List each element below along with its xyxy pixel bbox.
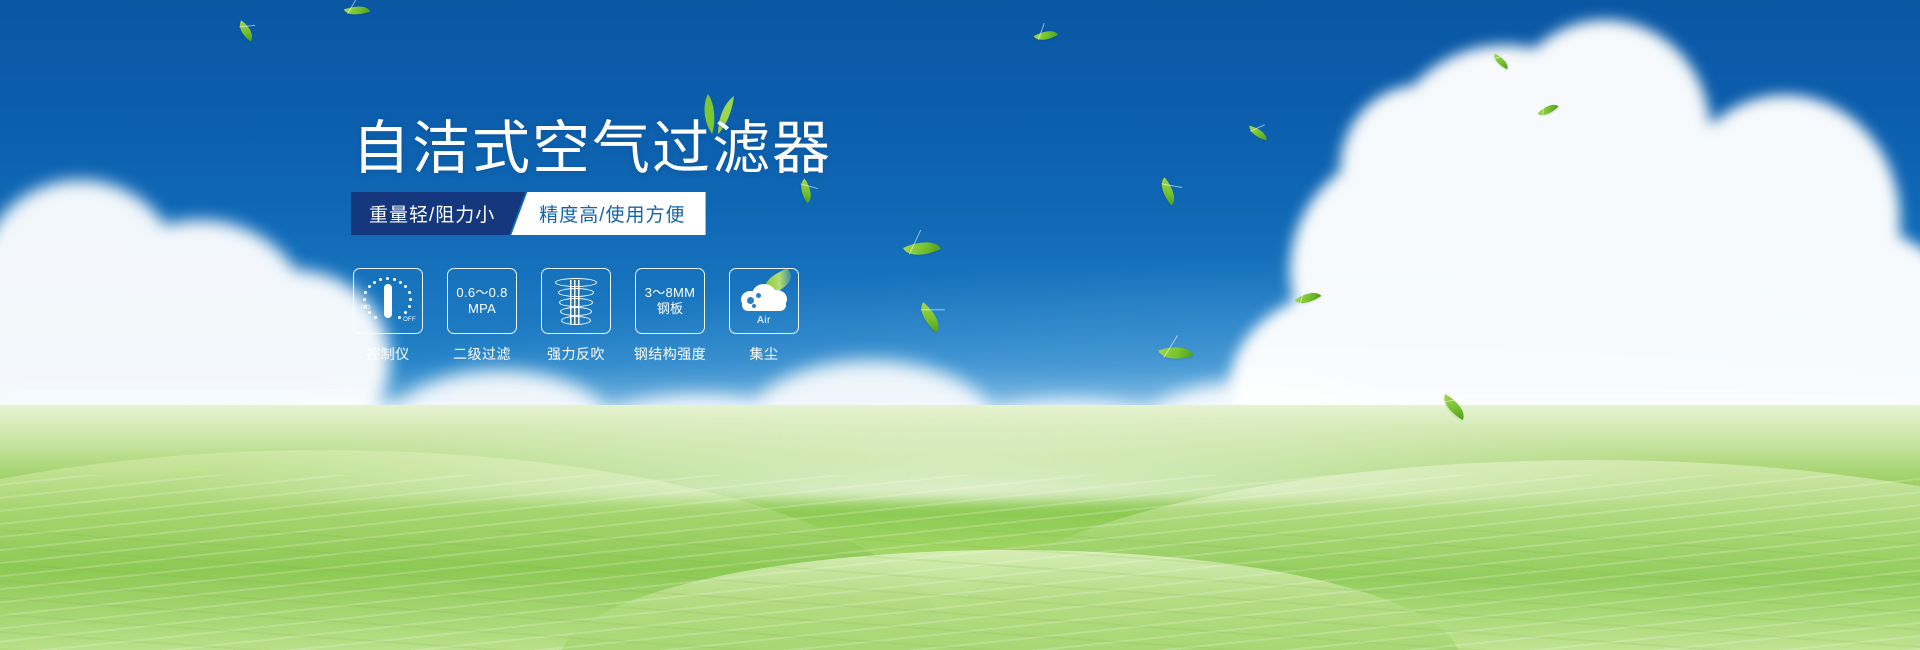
banner-content: 自洁式空气过滤器 重量轻/阻力小 精度高/使用方便: [0, 0, 1920, 650]
tagline-primary: 重量轻/阻力小: [351, 192, 525, 235]
feature-icon-box: Air: [729, 268, 799, 334]
steel-value-line1: 3〜8MM: [645, 285, 696, 301]
control-dial-icon: NO OFF: [362, 275, 414, 327]
feature-item-steel[interactable]: 3〜8MM 钢板 钢结构强度: [634, 268, 706, 364]
feature-caption: 二级过滤: [453, 344, 511, 364]
tagline-secondary: 精度高/使用方便: [511, 192, 705, 235]
filter-coil-icon: [552, 276, 600, 326]
dial-off-label: OFF: [403, 317, 416, 323]
feature-item-blowback[interactable]: 强力反吹: [540, 268, 612, 364]
feature-icon-box: [541, 268, 611, 334]
feature-caption: 集尘: [750, 344, 779, 364]
feature-item-control[interactable]: NO OFF 控制仪: [352, 268, 424, 364]
air-label: Air: [739, 315, 789, 326]
feature-caption: 钢结构强度: [634, 344, 707, 364]
steel-value-line2: 钢板: [657, 301, 684, 317]
tagline-group: 重量轻/阻力小 精度高/使用方便: [351, 192, 706, 235]
dust-cloud-icon: Air: [739, 278, 789, 324]
feature-icon-box: NO OFF: [353, 268, 423, 334]
feature-caption: 控制仪: [366, 344, 410, 364]
pressure-value-line2: MPA: [468, 301, 496, 317]
page-title: 自洁式空气过滤器: [352, 118, 832, 180]
feature-icon-box: 3〜8MM 钢板: [635, 268, 705, 334]
pressure-value-line1: 0.6〜0.8: [456, 285, 507, 301]
feature-list: NO OFF 控制仪 0.6〜0.8 MPA 二级过滤: [352, 268, 800, 364]
feature-icon-box: 0.6〜0.8 MPA: [447, 268, 517, 334]
feature-item-pressure[interactable]: 0.6〜0.8 MPA 二级过滤: [446, 268, 518, 364]
dial-on-label: NO: [361, 305, 371, 311]
feature-caption: 强力反吹: [547, 344, 605, 364]
promo-banner: 自洁式空气过滤器 重量轻/阻力小 精度高/使用方便: [0, 0, 1920, 650]
feature-item-dust[interactable]: Air 集尘: [728, 268, 800, 364]
